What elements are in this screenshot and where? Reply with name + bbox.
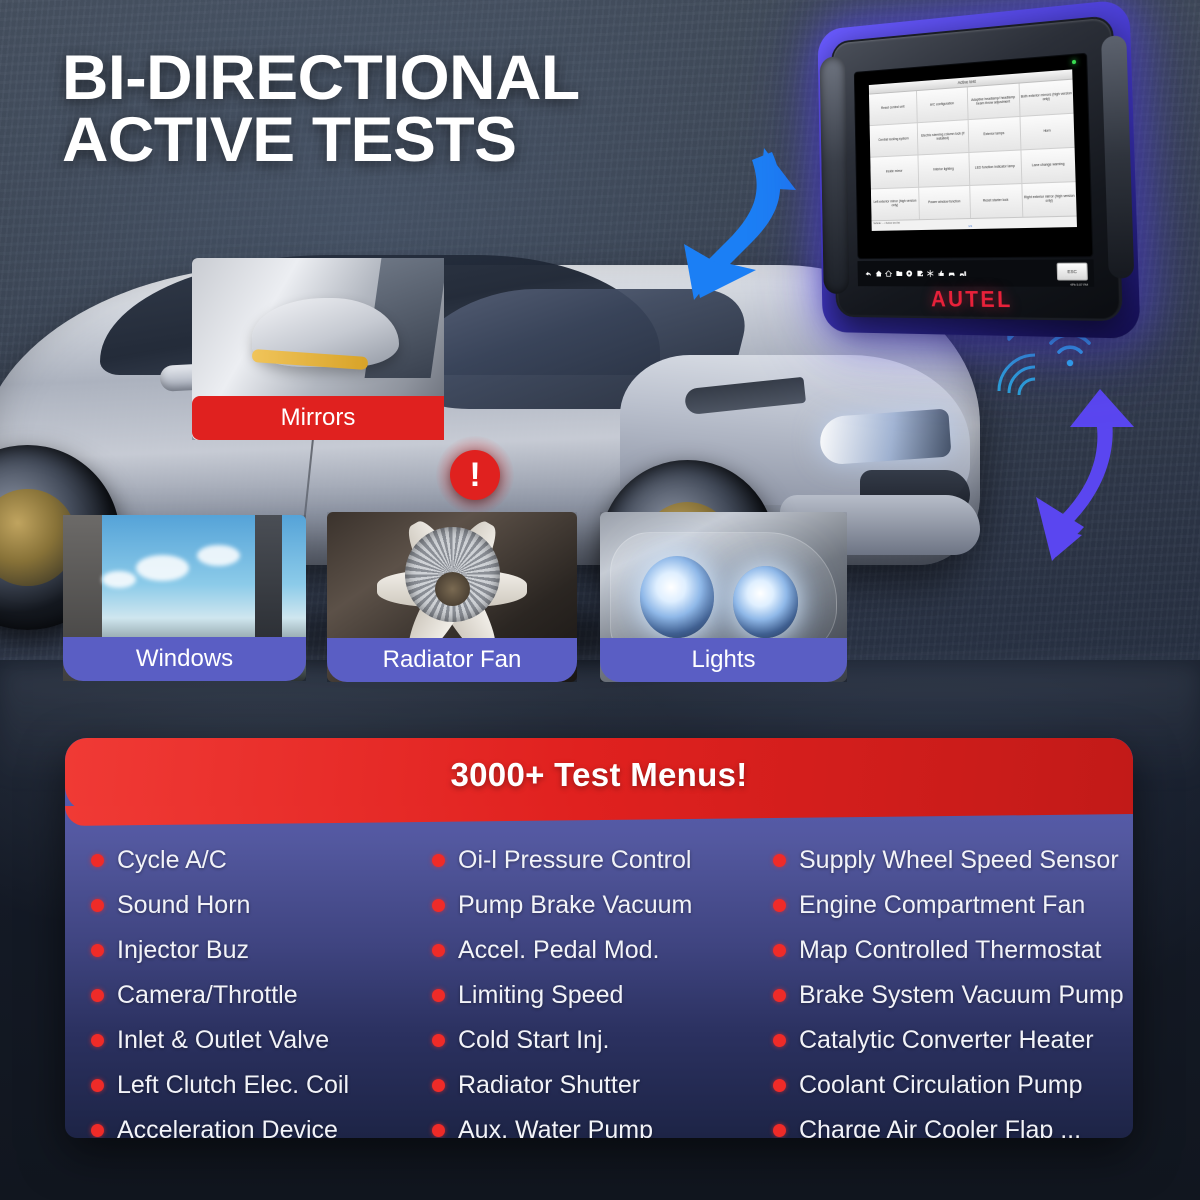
bullet-icon <box>432 899 445 912</box>
list-item-label: Left Clutch Elec. Coil <box>117 1071 349 1100</box>
tablet-left-grip <box>820 56 850 294</box>
bullet-icon <box>432 854 445 867</box>
car-front-icon[interactable] <box>948 269 956 277</box>
menu-cell[interactable]: LED function indicator lamp <box>969 151 1021 185</box>
esc-button[interactable]: ESC <box>1057 263 1088 281</box>
cloud <box>136 555 189 582</box>
bullet-icon <box>773 989 786 1002</box>
snowflake-icon[interactable] <box>926 269 934 277</box>
folder-icon[interactable] <box>895 270 902 278</box>
poster-canvas: BI-DIRECTIONAL ACTIVE TESTS <box>0 0 1200 1200</box>
list-item[interactable]: Cold Start Inj. <box>432 1018 767 1063</box>
list-item-label: Oi-l Pressure Control <box>458 846 691 875</box>
list-item[interactable]: Pump Brake Vacuum <box>432 883 767 928</box>
list-item[interactable]: Inlet & Outlet Valve <box>91 1018 426 1063</box>
menu-cell[interactable]: Left exterior mirror (high version only) <box>871 188 919 221</box>
panel-title: 3000+ Test Menus! <box>450 756 747 794</box>
tablet-screen[interactable]: Active test Reset control unit A/C confi… <box>854 53 1094 259</box>
menu-cell[interactable]: Central locking system <box>870 123 918 157</box>
bullet-icon <box>91 899 104 912</box>
list-item[interactable]: Supply Wheel Speed Sensor <box>773 838 1124 883</box>
fan-hub-core <box>435 572 470 606</box>
menu-cell[interactable]: Adaptive headlamp/ headlamp beam throw a… <box>967 84 1019 119</box>
bullet-icon <box>773 1034 786 1047</box>
test-menu-column-1: Cycle A/C Sound Horn Injector Buz Camera… <box>91 838 426 1138</box>
menu-cell[interactable]: A/C configuration <box>917 87 967 122</box>
projector-lamp <box>733 566 797 637</box>
thumb-icon[interactable] <box>937 269 945 277</box>
card-label-windows: Windows <box>63 637 306 681</box>
card-label-radiator-fan: Radiator Fan <box>327 638 577 682</box>
test-menu-column-2: Oi-l Pressure Control Pump Brake Vacuum … <box>432 838 767 1138</box>
menu-cell[interactable]: Power window function <box>919 186 969 219</box>
autel-logo: AUTEL <box>836 286 1123 315</box>
menu-cell[interactable]: Electric steering column lock (if instal… <box>918 120 968 154</box>
house-outline-icon[interactable] <box>885 270 892 278</box>
bullet-icon <box>773 944 786 957</box>
list-item-label: Cycle A/C <box>117 846 227 875</box>
wifi-icon <box>1051 335 1089 366</box>
list-item-label: Accel. Pedal Mod. <box>458 936 660 965</box>
menu-cell[interactable]: Interior lighting <box>919 153 969 187</box>
cloud <box>197 545 241 567</box>
menu-cell[interactable]: Reset starter lock <box>970 184 1022 218</box>
autel-diagnostic-tablet[interactable]: Active test Reset control unit A/C confi… <box>831 15 1123 321</box>
list-item[interactable]: Oi-l Pressure Control <box>432 838 767 883</box>
home-icon[interactable] <box>875 270 882 278</box>
list-item[interactable]: Left Clutch Elec. Coil <box>91 1063 426 1108</box>
active-test-app: Active test Reset control unit A/C confi… <box>869 69 1077 231</box>
bullet-icon <box>91 989 104 1002</box>
list-item[interactable]: Limiting Speed <box>432 973 767 1018</box>
menu-cell[interactable]: Inside mirror <box>870 155 918 188</box>
list-item-label: Inlet & Outlet Valve <box>117 1026 329 1055</box>
list-item[interactable]: Brake System Vacuum Pump <box>773 973 1124 1018</box>
bullet-icon <box>91 854 104 867</box>
list-item-label: Injector Buz <box>117 936 249 965</box>
list-item-label: Charge Air Cooler Flap ... <box>799 1116 1081 1138</box>
menu-cell[interactable]: Horn <box>1020 114 1074 150</box>
bullet-icon <box>773 899 786 912</box>
screen-pager: 1/1 <box>968 224 972 228</box>
bullet-icon <box>773 1124 786 1137</box>
menu-cell[interactable]: Reset control unit <box>869 91 917 125</box>
car-headlight <box>818 409 951 466</box>
bullet-icon <box>432 944 445 957</box>
list-item-label: Catalytic Converter Heater <box>799 1026 1094 1055</box>
list-item-label: Pump Brake Vacuum <box>458 891 692 920</box>
list-item-label: Aux. Water Pump <box>458 1116 653 1138</box>
bullet-icon <box>91 1079 104 1092</box>
note-icon[interactable] <box>916 270 923 278</box>
cloud <box>102 571 136 588</box>
list-item[interactable]: Accel. Pedal Mod. <box>432 928 767 973</box>
list-item[interactable]: Camera/Throttle <box>91 973 426 1018</box>
list-item[interactable]: Cycle A/C <box>91 838 426 883</box>
card-label-mirrors: Mirrors <box>192 396 444 440</box>
menu-cell[interactable]: Lane change warning <box>1021 148 1075 183</box>
panel-header: 3000+ Test Menus! <box>65 738 1133 812</box>
arrow-to-tablet-icon <box>1030 385 1180 565</box>
feature-card-mirrors[interactable]: Mirrors <box>192 258 444 440</box>
bullet-icon <box>432 1079 445 1092</box>
power-led-icon <box>1072 60 1076 64</box>
list-item-label: Supply Wheel Speed Sensor <box>799 846 1119 875</box>
list-item-label: Limiting Speed <box>458 981 623 1010</box>
list-item[interactable]: Radiator Shutter <box>432 1063 767 1108</box>
list-item[interactable]: Coolant Circulation Pump <box>773 1063 1124 1108</box>
bullet-icon <box>773 854 786 867</box>
test-menu-column-3: Supply Wheel Speed Sensor Engine Compart… <box>773 838 1124 1138</box>
list-item[interactable]: Charge Air Cooler Flap ... <box>773 1108 1124 1138</box>
list-item-label: Sound Horn <box>117 891 250 920</box>
menu-cell[interactable]: Both exterior mirrors (high version only… <box>1019 80 1073 116</box>
arrow-to-car-icon <box>660 140 820 305</box>
projector-lamp <box>640 556 714 638</box>
signal-waves <box>999 355 1035 395</box>
headline-line-1: BI-DIRECTIONAL <box>62 43 580 113</box>
list-item-label: Map Controlled Thermostat <box>799 936 1101 965</box>
active-test-menu-grid[interactable]: Reset control unit A/C configuration Ada… <box>869 80 1077 221</box>
list-item-label: Radiator Shutter <box>458 1071 640 1100</box>
back-arrow-icon[interactable] <box>865 270 872 278</box>
bullet-icon <box>432 989 445 1002</box>
list-item[interactable]: Map Controlled Thermostat <box>773 928 1124 973</box>
list-item-label: Coolant Circulation Pump <box>799 1071 1082 1100</box>
test-menu-columns: Cycle A/C Sound Horn Injector Buz Camera… <box>65 812 1133 1138</box>
list-item[interactable]: Engine Compartment Fan <box>773 883 1124 928</box>
feature-card-windows[interactable]: Windows <box>63 515 306 681</box>
bullet-icon <box>91 1124 104 1137</box>
list-item-label: Acceleration Device <box>117 1116 338 1138</box>
list-item-label: Engine Compartment Fan <box>799 891 1085 920</box>
list-item-label: Cold Start Inj. <box>458 1026 609 1055</box>
list-item-label: Brake System Vacuum Pump <box>799 981 1124 1010</box>
list-item[interactable]: Catalytic Converter Heater <box>773 1018 1124 1063</box>
tablet-toolbar[interactable]: ESC 4Pb 5:07 PM <box>857 259 1094 286</box>
menu-cell[interactable]: Right exterior mirror (high version only… <box>1022 182 1077 217</box>
list-item[interactable]: Aux. Water Pump <box>432 1108 767 1138</box>
alert-badge: ! <box>436 436 514 514</box>
list-item[interactable]: Sound Horn <box>91 883 426 928</box>
screen-footer-note: Vehicle: ... / Active test list <box>873 222 900 226</box>
bullet-icon <box>773 1079 786 1092</box>
record-icon[interactable] <box>906 270 913 278</box>
feature-card-radiator-fan[interactable]: Radiator Fan <box>327 512 577 682</box>
vehicle-data-icon[interactable] <box>959 269 967 277</box>
menu-cell[interactable]: Exterior lamps <box>968 117 1020 152</box>
card-label-lights: Lights <box>600 638 847 682</box>
bullet-icon <box>432 1034 445 1047</box>
bullet-icon <box>432 1124 445 1137</box>
bullet-icon <box>91 1034 104 1047</box>
bullet-icon <box>91 944 104 957</box>
list-item[interactable]: Acceleration Device <box>91 1108 426 1138</box>
list-item-label: Camera/Throttle <box>117 981 298 1010</box>
test-menus-panel: 3000+ Test Menus! Cycle A/C Sound Horn I… <box>65 738 1133 1138</box>
list-item[interactable]: Injector Buz <box>91 928 426 973</box>
alert-exclamation-icon: ! <box>450 450 500 500</box>
feature-card-lights[interactable]: Lights <box>600 512 847 682</box>
